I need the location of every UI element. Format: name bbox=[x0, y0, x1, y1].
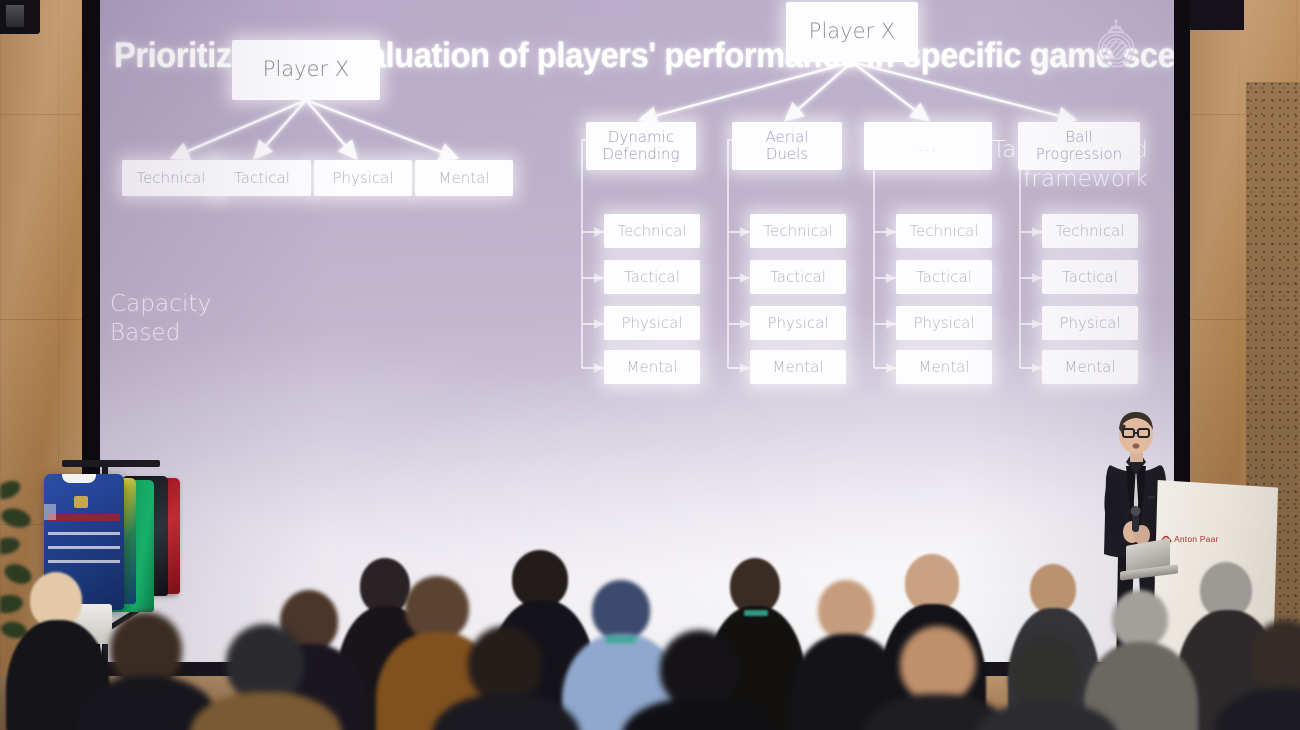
audience-head bbox=[468, 626, 542, 702]
capacity-leaf-tactical: Tactical bbox=[213, 160, 311, 196]
ceiling-dark-left bbox=[0, 0, 40, 34]
task2-leaf-physical: Physical bbox=[750, 306, 846, 340]
task-box-ellipsis: ... bbox=[864, 122, 992, 170]
club-brugge-crest-icon: CLUB BRUGGE bbox=[1091, 16, 1141, 76]
audience-head bbox=[110, 612, 182, 686]
svg-text:CLUB BRUGGE: CLUB BRUGGE bbox=[1101, 64, 1130, 69]
capacity-leaf-physical: Physical bbox=[314, 160, 412, 196]
task3-leaf-physical: Physical bbox=[896, 306, 992, 340]
audience-head bbox=[900, 626, 976, 702]
task1-leaf-mental: Mental bbox=[604, 350, 700, 384]
task4-leaf-technical: Technical bbox=[1042, 214, 1138, 248]
audience-head bbox=[660, 630, 738, 708]
audience-lanyard bbox=[606, 636, 636, 643]
task-root-player-x: Player X bbox=[786, 2, 918, 62]
audience-head bbox=[405, 576, 469, 640]
label-capacity-line2: Based bbox=[110, 319, 330, 348]
audience-head bbox=[818, 580, 874, 640]
conference-room-photo: Prioritizes the evaluation of players' p… bbox=[0, 0, 1300, 730]
audience-head bbox=[1030, 564, 1076, 614]
task3-leaf-tactical: Tactical bbox=[896, 260, 992, 294]
task2-leaf-tactical: Tactical bbox=[750, 260, 846, 294]
capacity-leaf-technical: Technical bbox=[122, 160, 220, 196]
task-box-dynamic-defending: Dynamic Defending bbox=[586, 122, 696, 170]
audience-head bbox=[1112, 590, 1168, 648]
task4-leaf-tactical: Tactical bbox=[1042, 260, 1138, 294]
task-box-ball-progression: Ball Progression bbox=[1018, 122, 1140, 170]
task3-leaf-technical: Technical bbox=[896, 214, 992, 248]
label-capacity-line1: Capacity bbox=[110, 290, 330, 319]
task2-leaf-mental: Mental bbox=[750, 350, 846, 384]
task1-leaf-physical: Physical bbox=[604, 306, 700, 340]
task-box-aerial-duels: Aerial Duels bbox=[732, 122, 842, 170]
capacity-leaf-mental: Mental bbox=[415, 160, 513, 196]
audience-lanyard bbox=[744, 610, 768, 616]
task1-leaf-tactical: Tactical bbox=[604, 260, 700, 294]
audience-head bbox=[1010, 636, 1082, 710]
task4-leaf-mental: Mental bbox=[1042, 350, 1138, 384]
task4-leaf-physical: Physical bbox=[1042, 306, 1138, 340]
rack-crossbar bbox=[62, 460, 160, 467]
task2-leaf-technical: Technical bbox=[750, 214, 846, 248]
task3-leaf-mental: Mental bbox=[896, 350, 992, 384]
task1-leaf-technical: Technical bbox=[604, 214, 700, 248]
audience-head bbox=[226, 624, 304, 702]
capacity-root-player-x: Player X bbox=[232, 40, 380, 100]
label-capacity-based: Capacity Based bbox=[110, 290, 330, 348]
audience-seating bbox=[0, 540, 1300, 730]
audience-head bbox=[592, 580, 650, 640]
